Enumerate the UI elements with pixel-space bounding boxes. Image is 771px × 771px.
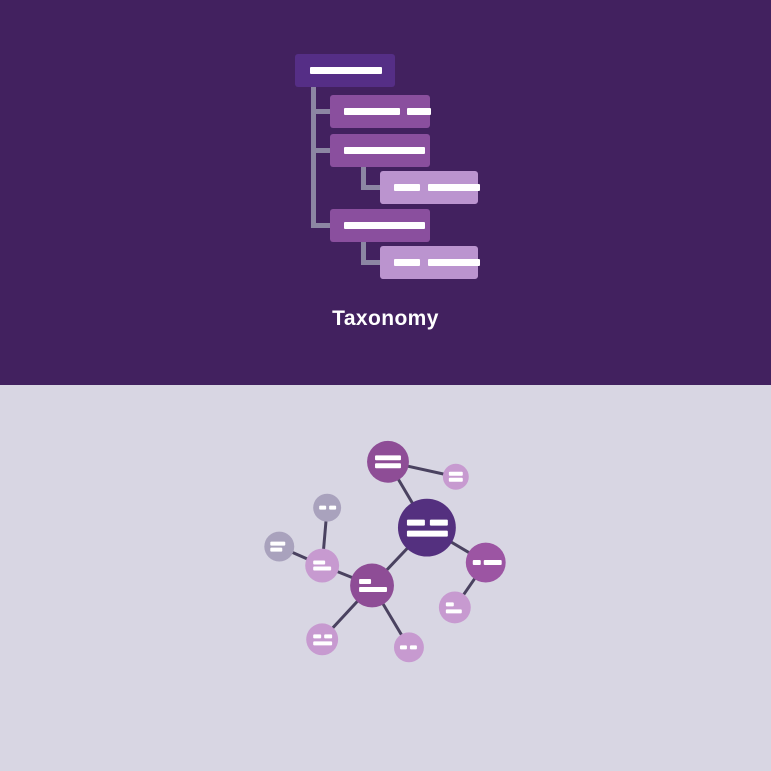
ontology-node-node-bc-textbar-1 [410,645,417,649]
ontology-node-node-right-textbar-1 [484,560,502,565]
ontology-node-hub-main[interactable] [398,499,456,557]
ontology-node-node-right-textbar-0 [473,560,481,565]
infographic-canvas: Taxonomy Ontology [0,0,771,771]
taxonomy-box-n2-textbar-0 [344,147,425,154]
ontology-node-node-pink-c[interactable] [305,549,339,583]
ontology-node-node-gray-lt-textbar-1 [270,548,282,552]
ontology-node-node-top-circle [367,441,409,483]
ontology-node-node-gray-up-textbar-0 [319,506,326,510]
ontology-node-node-pink-c-circle [305,549,339,583]
taxonomy-box-n1-textbar-1 [407,108,431,115]
ontology-node-node-bl-circle [306,623,338,655]
ontology-node-node-gray-lt-circle [264,532,294,562]
ontology-node-hub-main-textbar-0 [407,520,425,526]
ontology-node-node-tr-sm[interactable] [443,464,469,490]
ontology-node-node-bl-textbar-0 [313,634,321,638]
ontology-node-hub-main-textbar-2 [407,531,448,537]
ontology-node-node-bl-textbar-1 [324,634,332,638]
taxonomy-box-n3[interactable] [330,209,430,242]
ontology-node-node-bc[interactable] [394,632,424,662]
ontology-node-node-bl-textbar-2 [313,641,332,645]
ontology-node-node-tr-sm-circle [443,464,469,490]
taxonomy-box-n3-textbar-0 [344,222,425,229]
panel-ontology: Ontology [0,385,771,771]
ontology-diagram [0,385,771,770]
ontology-node-node-pink-c-textbar-0 [313,561,325,565]
ontology-node-node-bl[interactable] [306,623,338,655]
ontology-node-node-top[interactable] [367,441,409,483]
ontology-node-node-hub2[interactable] [350,564,394,608]
ontology-node-hub-main-textbar-1 [430,520,448,526]
ontology-node-node-tr-sm-textbar-0 [449,472,463,476]
ontology-node-node-br-textbar-0 [446,602,454,606]
taxonomy-box-n2[interactable] [330,134,430,167]
ontology-node-node-tr-sm-textbar-1 [449,478,463,482]
ontology-node-hub-main-circle [398,499,456,557]
ontology-node-node-pink-c-textbar-1 [313,567,331,571]
ontology-node-node-gray-lt-textbar-0 [270,542,285,546]
taxonomy-box-n2a-textbar-0 [394,184,420,191]
taxonomy-box-n3a-textbar-1 [428,259,480,266]
ontology-node-node-bc-circle [394,632,424,662]
ontology-node-node-br[interactable] [439,591,471,623]
ontology-node-node-br-textbar-1 [446,609,462,613]
ontology-node-node-right[interactable] [466,543,506,583]
taxonomy-box-n1[interactable] [330,95,430,128]
taxonomy-caption: Taxonomy [0,307,771,331]
ontology-node-node-hub2-textbar-0 [359,579,371,584]
ontology-node-node-br-circle [439,591,471,623]
ontology-node-node-hub2-textbar-1 [359,587,387,592]
ontology-node-node-gray-up-textbar-1 [329,506,336,510]
ontology-node-node-bc-textbar-0 [400,645,407,649]
taxonomy-box-n3a[interactable] [380,246,478,279]
ontology-node-node-hub2-circle [350,564,394,608]
ontology-node-node-top-textbar-0 [375,455,401,460]
taxonomy-box-root-textbar-0 [310,67,382,74]
ontology-graph [0,385,771,770]
ontology-node-node-top-textbar-1 [375,463,401,468]
taxonomy-box-n3a-textbar-0 [394,259,420,266]
ontology-node-node-gray-up-circle [313,494,341,522]
taxonomy-box-root[interactable] [295,54,395,87]
panel-taxonomy: Taxonomy [0,0,771,385]
taxonomy-box-n2a-textbar-1 [428,184,480,191]
ontology-node-node-gray-lt[interactable] [264,532,294,562]
taxonomy-box-n2a[interactable] [380,171,478,204]
taxonomy-box-n1-textbar-0 [344,108,400,115]
taxonomy-connector-root-trunk [311,87,316,226]
ontology-node-node-gray-up[interactable] [313,494,341,522]
